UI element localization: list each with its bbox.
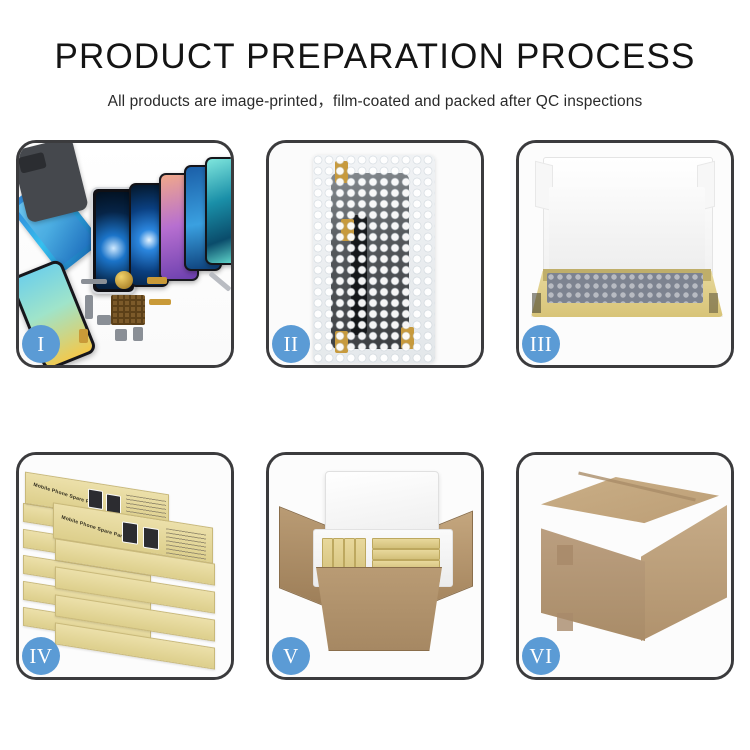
chip-part-1 [81, 279, 107, 284]
panel-4-badge: IV [22, 637, 60, 675]
gold-connector-3 [79, 329, 88, 343]
panel-5-badge: V [272, 637, 310, 675]
box-phone-image-3 [122, 521, 138, 545]
gold-connector-1 [147, 277, 167, 284]
panel-2-badge: II [272, 325, 310, 363]
carton-tape-patch-top [557, 545, 573, 565]
panel-step-2[interactable]: II [266, 140, 484, 368]
box-text-lines-2 [166, 528, 206, 560]
bubble-wrapped-contents [547, 273, 703, 303]
panel-step-3[interactable]: III [516, 140, 734, 368]
gold-connector-2 [149, 299, 171, 305]
chip-part-2 [85, 295, 93, 319]
screwdriver-icon [208, 271, 231, 292]
yellow-box-5 [372, 538, 440, 549]
box-phone-image-4 [143, 527, 159, 551]
carton-tape-patch-bottom [557, 613, 573, 631]
page-title: PRODUCT PREPARATION PROCESS [0, 38, 750, 77]
foam-sheet [549, 187, 705, 273]
bubble-wrap-bag [313, 155, 435, 363]
bubble-texture [313, 155, 435, 363]
page-subtitle: All products are image-printed，film-coat… [0, 89, 750, 111]
panel-step-4[interactable]: Mobile Phone Spare Parts Mobile Phone Sp… [16, 452, 234, 680]
panel-3-badge: III [522, 325, 560, 363]
box-label-top-right: Mobile Phone Spare Parts [61, 515, 128, 542]
panel-step-1[interactable]: I [16, 140, 234, 368]
panel-6-badge: VI [522, 637, 560, 675]
panel-step-5[interactable]: V [266, 452, 484, 680]
box-phone-image-1 [88, 489, 103, 510]
panel-1-badge: I [22, 325, 60, 363]
phone-display-4 [205, 157, 231, 265]
chip-part-5 [133, 327, 143, 341]
process-panel-grid: I II III [16, 140, 734, 680]
carton-side-face [641, 505, 727, 641]
box-notch-right [709, 293, 718, 313]
chip-part-3 [97, 315, 111, 325]
yellow-box-6 [372, 549, 440, 560]
chip-part-4 [115, 329, 127, 341]
page-header: PRODUCT PREPARATION PROCESS All products… [0, 0, 750, 111]
speaker-part-icon [115, 271, 133, 289]
logic-board-part [111, 295, 145, 325]
carton-body [309, 567, 449, 651]
panel-step-6[interactable]: VI [516, 452, 734, 680]
box-notch-left [532, 293, 541, 313]
